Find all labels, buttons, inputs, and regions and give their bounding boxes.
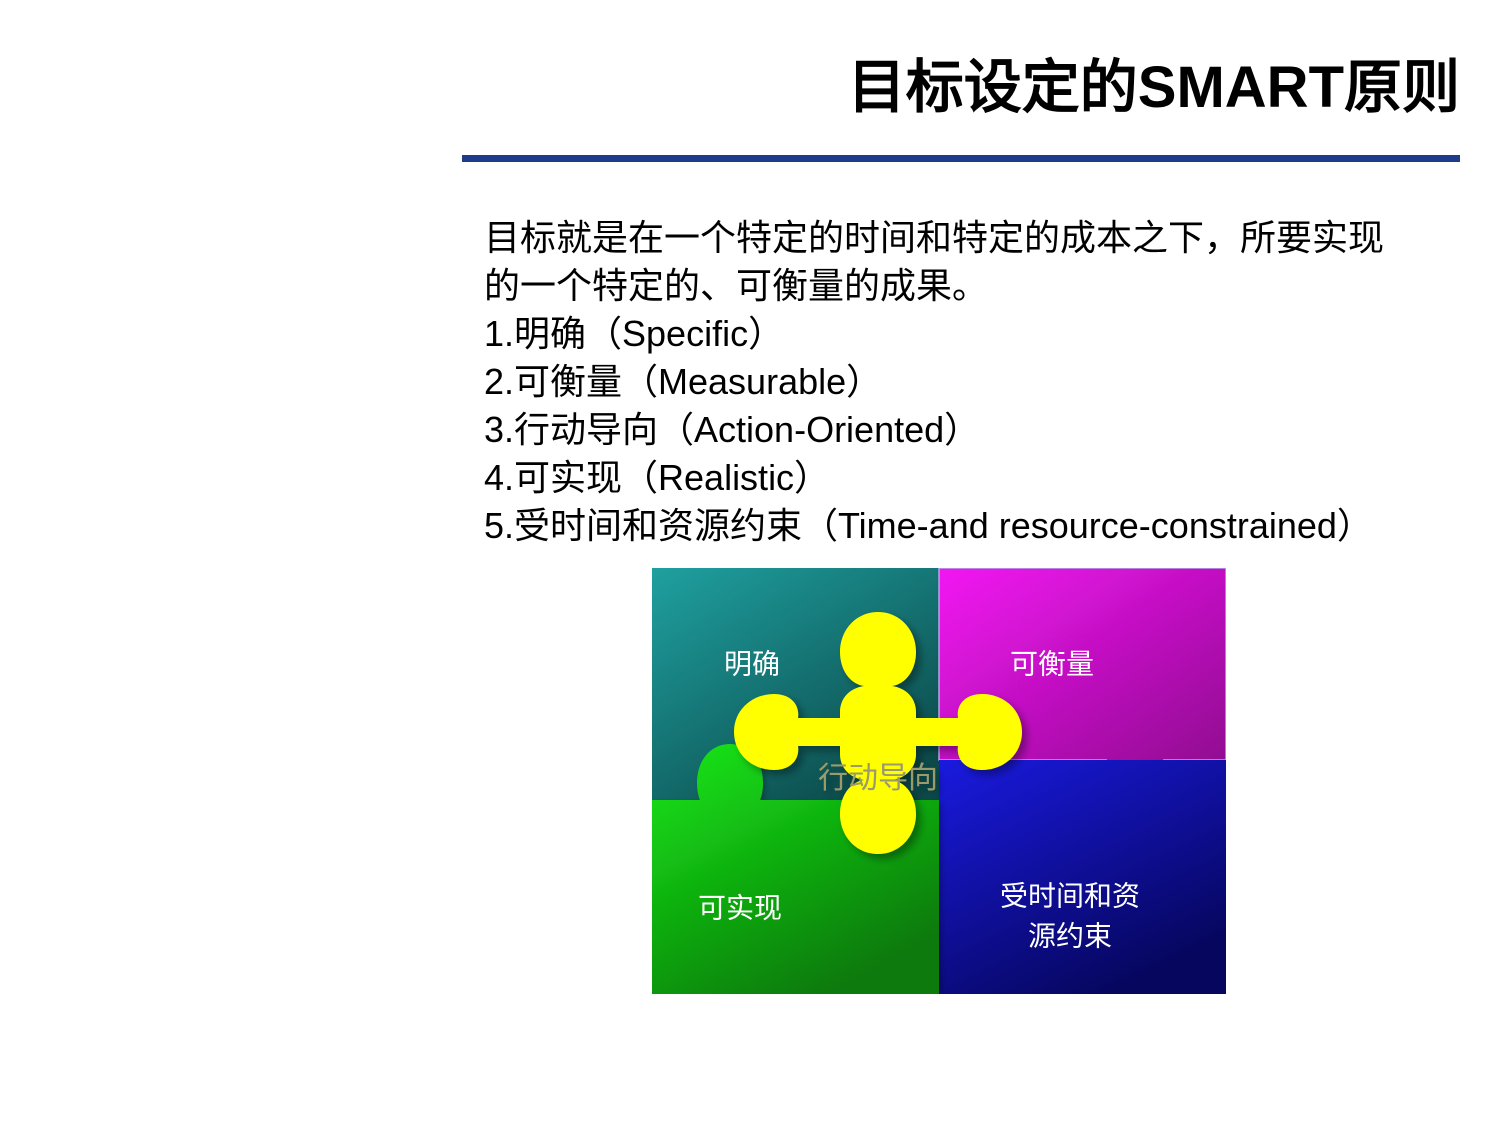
intro-line-1: 目标就是在一个特定的时间和特定的成本之下，所要实现 [484,214,1464,262]
list-item-specific: 1.明确（Specific） [484,310,1464,358]
puzzle-piece-timebound-label-line2: 源约束 [1028,920,1112,951]
puzzle-piece-realistic-label: 可实现 [698,892,782,923]
puzzle-piece-timebound-label-line1: 受时间和资 [1000,880,1140,911]
list-item-timebound: 5.受时间和资源约束（Time-and resource-constrained… [484,502,1464,550]
list-item-realistic: 4.可实现（Realistic） [484,454,1464,502]
puzzle-piece-measurable-label: 可衡量 [1010,648,1094,679]
list-item-measurable: 2.可衡量（Measurable） [484,358,1464,406]
puzzle-piece-timebound-shape [939,760,1226,994]
page-title: 目标设定的SMART原则 [462,58,1460,119]
intro-line-2: 的一个特定的、可衡量的成果。 [484,262,1464,310]
puzzle-piece-specific-label: 明确 [724,648,780,679]
puzzle-piece-timebound[interactable]: 受时间和资 源约束 [939,760,1226,994]
puzzle-piece-action-oriented-label: 行动导向 [818,762,938,795]
puzzle-svg: 明确 可衡量 受时间和资 源约束 可实现 行动导向 [652,568,1226,994]
list-item-action: 3.行动导向（Action-Oriented） [484,406,1464,454]
body-text-block: 目标就是在一个特定的时间和特定的成本之下，所要实现 的一个特定的、可衡量的成果。… [484,214,1464,550]
smart-puzzle-diagram: 明确 可衡量 受时间和资 源约束 可实现 行动导向 [652,568,1226,994]
title-underline-rule [462,155,1460,162]
